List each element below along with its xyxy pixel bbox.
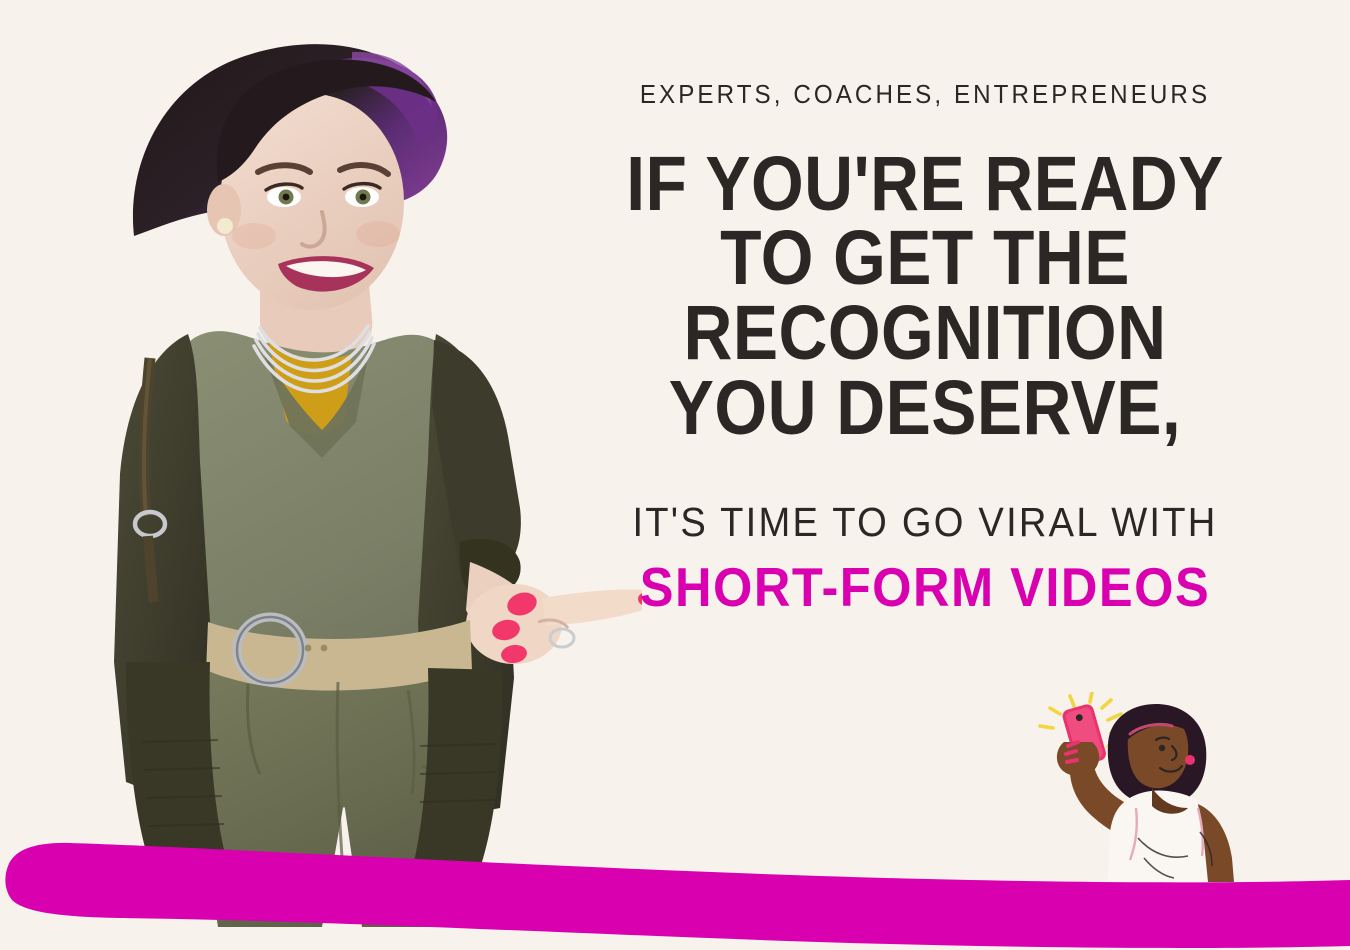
eyebrow-text: EXPERTS, COACHES, ENTREPRENEURS (548, 80, 1301, 109)
selfie-illustration (1012, 692, 1242, 882)
headline-line-2: TO GET THE (569, 221, 1282, 296)
pearl-earring (217, 218, 233, 234)
text-column: EXPERTS, COACHES, ENTREPRENEURS IF YOU'R… (520, 80, 1330, 615)
headline-line-3: RECOGNITION (569, 296, 1282, 371)
highlight-text: SHORT-FORM VIDEOS (552, 560, 1297, 615)
headline: IF YOU'RE READY TO GET THE RECOGNITION Y… (569, 147, 1282, 446)
subhead-text: IT'S TIME TO GO VIRAL WITH (548, 501, 1301, 544)
headline-line-1: IF YOU'RE READY (569, 147, 1282, 222)
promo-poster: EXPERTS, COACHES, ENTREPRENEURS IF YOU'R… (0, 0, 1350, 950)
earring (1185, 755, 1195, 765)
headline-line-4: YOU DESERVE, (569, 371, 1282, 446)
